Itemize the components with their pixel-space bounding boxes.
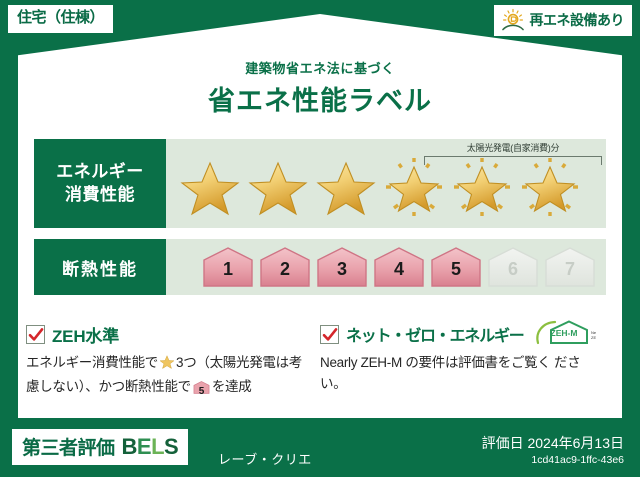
insulation-level-badge: 3 bbox=[315, 246, 369, 288]
sun-solar-icon bbox=[500, 8, 526, 32]
inline-insulation-badge-icon: 5 bbox=[193, 380, 210, 402]
energy-label-line1: エネルギー bbox=[56, 161, 144, 183]
claim-nze-body: Nearly ZEH-M の要件は評価書をご覧く ださい。 bbox=[320, 353, 602, 394]
insulation-level-badge: 1 bbox=[201, 246, 255, 288]
evaluation-date: 評価日 2024年6月13日 bbox=[482, 433, 624, 453]
insulation-level-value: 3 bbox=[315, 259, 369, 280]
insulation-performance-row: 断熱性能 1 2 bbox=[34, 239, 606, 295]
energy-performance-label-box: エネルギー 消費性能 bbox=[34, 139, 166, 228]
bels-logo: BELS bbox=[122, 434, 179, 460]
svg-text:ZEH-M: ZEH-M bbox=[591, 335, 596, 340]
insulation-level-value: 1 bbox=[201, 259, 255, 280]
zeh-m-logo-icon: ZEH-M Nearly ZEH-M bbox=[534, 319, 596, 350]
insulation-level-badge: 5 bbox=[429, 246, 483, 288]
builder-name: レーブ・クリエ bbox=[218, 449, 312, 468]
house-type-chip-label: 住宅（住棟） bbox=[17, 9, 104, 26]
renewable-badge-label: 再エネ設備あり bbox=[530, 10, 625, 30]
claim-net-zero-energy: ネット・ゼロ・エネルギー ZEH-M Nearly ZEH-M Nearly Z… bbox=[320, 322, 614, 407]
star-icon bbox=[246, 157, 310, 219]
energy-star-rating bbox=[166, 157, 582, 219]
evaluation-date-label: 評価日 bbox=[482, 435, 524, 451]
insulation-performance-label-box: 断熱性能 bbox=[34, 239, 166, 295]
insulation-level-scale: 1 2 3 4 5 bbox=[166, 246, 597, 288]
house-type-chip: 住宅（住棟） bbox=[8, 5, 113, 33]
checkbox-checked-icon bbox=[26, 325, 45, 344]
insulation-rating-area: 1 2 3 4 5 bbox=[166, 239, 606, 295]
evaluation-id: 1cd41ac9-1ffc-43e6 bbox=[531, 454, 624, 466]
bels-certification-chip: 第三者評価 BELS bbox=[12, 429, 188, 465]
third-party-evaluation-label: 第三者評価 bbox=[22, 433, 115, 460]
energy-performance-label: 住宅（住棟） 再エネ設備あり 建築物省エネ法に基づく 省エ bbox=[0, 0, 640, 477]
star-solar-icon bbox=[450, 157, 514, 219]
evaluation-date-value: 2024年6月13日 bbox=[527, 435, 624, 451]
renewable-equipment-badge: 再エネ設備あり bbox=[494, 5, 633, 36]
insulation-level-value: 2 bbox=[258, 259, 312, 280]
checkbox-checked-icon bbox=[320, 325, 339, 344]
star-icon bbox=[178, 157, 242, 219]
inline-star-icon bbox=[159, 358, 175, 373]
insulation-level-value: 4 bbox=[372, 259, 426, 280]
inline-insulation-badge-value: 5 bbox=[193, 384, 210, 399]
svg-text:ZEH-M: ZEH-M bbox=[550, 328, 577, 338]
insulation-level-badge: 4 bbox=[372, 246, 426, 288]
claim-zeh-text-4: を達成 bbox=[212, 379, 252, 394]
solar-annotation-caption: 太陽光発電(自家消費)分 bbox=[424, 141, 602, 154]
claims-section: ZEH水準 エネルギー消費性能で3つ（太陽光発電は考慮しない）、かつ断熱性能で5… bbox=[26, 322, 614, 407]
insulation-level-badge: 7 bbox=[543, 246, 597, 288]
claim-zeh-standard: ZEH水準 エネルギー消費性能で3つ（太陽光発電は考慮しない）、かつ断熱性能で5… bbox=[26, 322, 320, 407]
claim-zeh-title: ZEH水準 bbox=[52, 322, 119, 347]
footer-bar: 第三者評価 BELS レーブ・クリエ 評価日 2024年6月13日 1cd41a… bbox=[0, 418, 640, 477]
insulation-level-value: 7 bbox=[543, 259, 597, 280]
label-title: 省エネ性能ラベル bbox=[0, 79, 640, 118]
insulation-level-badge: 2 bbox=[258, 246, 312, 288]
claim-zeh-text-2: 3つ（太陽光発電 bbox=[176, 355, 276, 370]
insulation-level-badge: 6 bbox=[486, 246, 540, 288]
claim-zeh-text-1: エネルギー消費性能で bbox=[26, 355, 158, 370]
claim-nze-title: ネット・ゼロ・エネルギー bbox=[346, 322, 524, 346]
insulation-level-value: 5 bbox=[429, 259, 483, 280]
label-subtitle: 建築物省エネ法に基づく bbox=[0, 58, 640, 77]
claim-zeh-header: ZEH水準 bbox=[26, 322, 308, 346]
energy-label-line2: 消費性能 bbox=[65, 184, 135, 206]
energy-performance-row: エネルギー 消費性能 太陽光発電(自家消費)分 bbox=[34, 139, 606, 228]
star-solar-icon bbox=[382, 157, 446, 219]
star-solar-icon bbox=[518, 157, 582, 219]
insulation-label: 断熱性能 bbox=[62, 255, 138, 280]
energy-rating-area: 太陽光発電(自家消費)分 bbox=[166, 139, 606, 228]
claim-nze-header: ネット・ゼロ・エネルギー ZEH-M Nearly ZEH-M bbox=[320, 322, 602, 346]
star-icon bbox=[314, 157, 378, 219]
claim-zeh-body: エネルギー消費性能で3つ（太陽光発電は考慮しない）、かつ断熱性能で5を達成 bbox=[26, 353, 308, 401]
insulation-level-value: 6 bbox=[486, 259, 540, 280]
